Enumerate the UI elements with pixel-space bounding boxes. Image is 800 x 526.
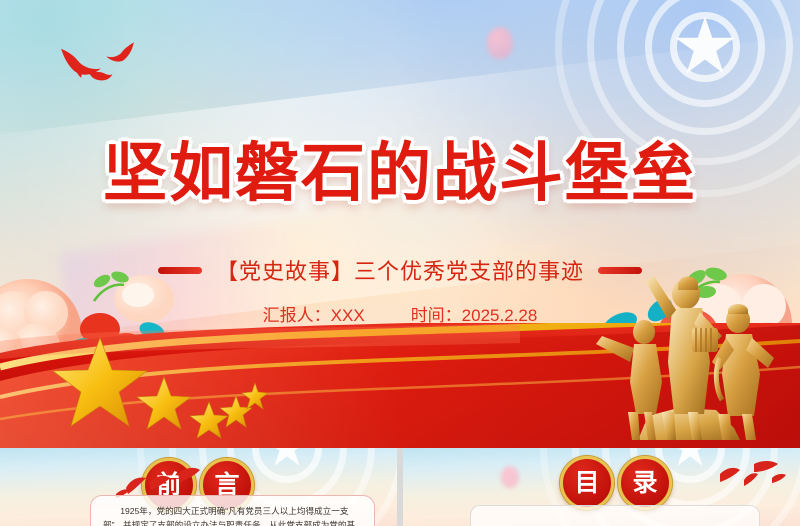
date-label: 时间：2025.2.28 [411, 301, 538, 326]
star-icon [668, 448, 712, 470]
cover-text-block: 坚如磐石的战斗堡垒 【党史故事】三个优秀党支部的事迹 汇报人：XXX 时间：20… [0, 0, 800, 448]
red-dove-icon [710, 460, 790, 492]
contents-badge-group[interactable]: 目 录 [560, 456, 672, 510]
preface-body-text: 1925年，党的四大正式明确“凡有党员三人以上均得成立一支部”，并规定了支部的设… [103, 504, 362, 526]
contents-body-box [470, 505, 760, 526]
presenter-label: 汇报人：XXX [263, 301, 365, 326]
preface-body-box: 1925年，党的四大正式明确“凡有党员三人以上均得成立一支部”，并规定了支部的设… [90, 495, 375, 526]
dash-left-icon [158, 267, 202, 274]
pink-balloon-icon [501, 466, 519, 488]
slide-deck-stage: 坚如磐石的战斗堡垒 【党史故事】三个优秀党支部的事迹 汇报人：XXX 时间：20… [0, 0, 800, 526]
contents-badge-2[interactable]: 录 [618, 456, 672, 510]
dash-right-icon [598, 267, 642, 274]
meta-row: 汇报人：XXX 时间：2025.2.28 [0, 301, 800, 326]
subtitle-row: 【党史故事】三个优秀党支部的事迹 [0, 254, 800, 286]
page-subtitle: 【党史故事】三个优秀党支部的事迹 [216, 254, 584, 286]
contents-badge-1[interactable]: 目 [560, 456, 614, 510]
page-title: 坚如磐石的战斗堡垒 [0, 141, 800, 205]
star-icon [265, 448, 309, 470]
cover-slide[interactable]: 坚如磐石的战斗堡垒 【党史故事】三个优秀党支部的事迹 汇报人：XXX 时间：20… [0, 0, 800, 448]
